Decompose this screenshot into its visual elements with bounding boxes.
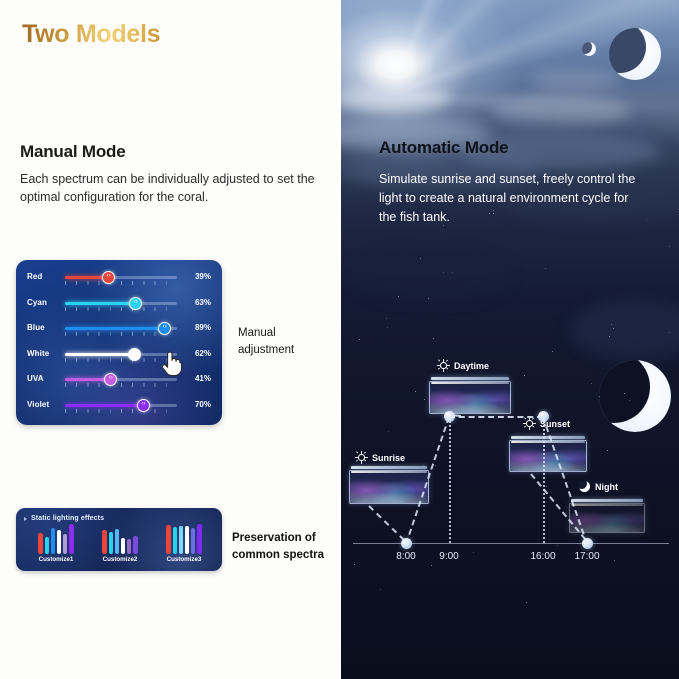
tank-coral-bed: [510, 454, 586, 471]
cloud-2: [491, 96, 631, 126]
star: [669, 332, 670, 333]
cloud-9: [351, 250, 511, 302]
star: [669, 246, 670, 247]
slider-label: Blue: [27, 323, 45, 332]
slider-label: White: [27, 349, 49, 358]
sunrise-sun-icon: [355, 451, 368, 464]
star: [380, 589, 381, 590]
slider-track[interactable]: [65, 378, 177, 381]
aquarium-tank-sunrise: [349, 470, 429, 504]
preset-bar: [191, 528, 195, 554]
slider-row-cyan[interactable]: Cyan63%: [16, 293, 222, 316]
chevron-right-icon: [24, 517, 27, 521]
slider-label: Violet: [27, 400, 49, 409]
preset-bar: [133, 536, 137, 554]
slider-percent: 41%: [195, 374, 211, 383]
phase-label-daytime: Daytime: [437, 359, 489, 372]
star: [526, 602, 527, 603]
cloud-8: [571, 300, 679, 360]
slider-track[interactable]: [65, 302, 177, 305]
connector-sunrise-tank: [368, 505, 404, 540]
slider-fill: [65, 327, 165, 330]
slider-ticks: [65, 307, 177, 311]
plateau-line: [449, 416, 543, 418]
preset-bar: [185, 526, 189, 554]
slider-percent: 39%: [195, 272, 211, 281]
crescent-moon-icon: [579, 481, 591, 493]
preset-bar: [173, 527, 177, 554]
aquarium-tank-daytime: [429, 381, 511, 414]
manual-mode-panel: Two Models Manual Mode Each spectrum can…: [0, 0, 340, 679]
lighting-timeline: SunriseDaytimeSunsetNight8:009:0016:0017…: [341, 355, 679, 585]
preset-1[interactable]: Customize1: [28, 528, 84, 563]
preset-3[interactable]: Customize3: [156, 528, 212, 563]
drop-line-1: [449, 416, 451, 543]
preset-bar: [102, 530, 106, 554]
star: [613, 328, 614, 329]
slider-fill: [65, 353, 134, 356]
page-title: Two Models: [22, 20, 160, 49]
tank-light-bar-daytime: [431, 377, 509, 380]
slider-row-blue[interactable]: Blue89%: [16, 318, 222, 341]
slider-label: Cyan: [27, 298, 47, 307]
star: [611, 324, 612, 325]
preset-bar: [63, 534, 67, 554]
slider-ticks: [65, 383, 177, 387]
tank-light-bar-night: [571, 499, 643, 502]
cloud-1: [341, 86, 451, 112]
sunset-sun-icon: [523, 417, 536, 430]
slider-percent: 70%: [195, 400, 211, 409]
time-label-2: 16:00: [530, 551, 555, 562]
effects-title: Static lighting effects: [31, 515, 104, 522]
automatic-mode-heading: Automatic Mode: [379, 138, 508, 158]
star: [609, 336, 610, 337]
star: [428, 298, 429, 299]
preset-bar: [115, 529, 119, 554]
preset-bar: [121, 538, 125, 554]
preset-bar: [109, 532, 113, 554]
slider-knob[interactable]: [137, 399, 150, 412]
preset-bars: [28, 528, 84, 554]
sun-icon: [437, 359, 450, 372]
small-moon-icon: [582, 42, 596, 56]
preset-name: Customize2: [92, 556, 148, 563]
tank-coral-bed: [350, 484, 428, 503]
slider-ticks: [65, 409, 177, 413]
star: [420, 258, 421, 259]
phase-name: Daytime: [454, 361, 489, 371]
star: [452, 272, 453, 273]
slider-fill: [65, 404, 143, 407]
preservation-caption: Preservation of common spectra: [232, 530, 336, 563]
manual-mode-heading: Manual Mode: [20, 142, 125, 162]
slider-track[interactable]: [65, 276, 177, 279]
automatic-mode-panel: Automatic Mode Simulate sunrise and suns…: [341, 0, 679, 679]
phase-name: Night: [595, 482, 618, 492]
star: [387, 327, 388, 328]
preset-bar: [179, 526, 183, 554]
effects-title-row: Static lighting effects: [24, 515, 104, 522]
star: [386, 318, 387, 319]
preset-bar: [197, 524, 201, 554]
slider-ticks: [65, 281, 177, 285]
preset-name: Customize1: [28, 556, 84, 563]
slider-ticks: [65, 358, 177, 362]
preset-bar: [51, 528, 55, 554]
preset-bar: [38, 533, 42, 554]
slider-track[interactable]: [65, 404, 177, 407]
preset-bars: [92, 528, 148, 554]
star: [646, 219, 647, 220]
slider-percent: 63%: [195, 298, 211, 307]
spectrum-slider-card: Red39%Cyan63%Blue89%White62%UVA41%Violet…: [16, 260, 222, 425]
slider-fill: [65, 302, 136, 305]
slider-knob[interactable]: [128, 348, 141, 361]
drop-line-2: [543, 416, 545, 543]
preset-bars: [156, 528, 212, 554]
slider-row-white[interactable]: White62%: [16, 344, 222, 367]
tank-coral-bed: [430, 395, 510, 413]
manual-mode-description: Each spectrum can be individually adjust…: [20, 170, 320, 206]
phase-label-sunrise: Sunrise: [355, 451, 405, 464]
slider-percent: 62%: [195, 349, 211, 358]
star: [359, 339, 360, 340]
preset-bar: [57, 530, 61, 554]
aquarium-tank-sunset: [509, 440, 587, 472]
preset-2[interactable]: Customize2: [92, 528, 148, 563]
slider-knob[interactable]: [129, 297, 142, 310]
preset-bar: [69, 524, 73, 554]
slider-row-violet[interactable]: Violet70%: [16, 395, 222, 418]
slider-percent: 89%: [195, 323, 211, 332]
star: [433, 338, 434, 339]
preset-bar: [127, 539, 131, 554]
preset-name: Customize3: [156, 556, 212, 563]
slider-row-red[interactable]: Red39%: [16, 267, 222, 290]
tank-light-bar-sunrise: [351, 466, 427, 469]
slider-label: UVA: [27, 374, 44, 383]
slider-row-uva[interactable]: UVA41%: [16, 369, 222, 392]
slider-label: Red: [27, 272, 42, 281]
manual-adjustment-caption: Manual adjustment: [238, 325, 334, 358]
slider-track[interactable]: [65, 353, 177, 356]
static-lighting-effects-card: Static lighting effects Customize1Custom…: [16, 508, 222, 571]
time-label-1: 9:00: [439, 551, 458, 562]
time-label-0: 8:00: [396, 551, 415, 562]
automatic-mode-description: Simulate sunrise and sunset, freely cont…: [379, 170, 643, 226]
time-label-3: 17:00: [574, 551, 599, 562]
phase-name: Sunrise: [372, 453, 405, 463]
cloud-5: [531, 70, 621, 90]
preset-bar: [45, 537, 49, 554]
crescent-moon-icon-top: [609, 28, 661, 80]
phase-label-night: Night: [579, 481, 618, 493]
star: [398, 296, 399, 297]
star: [545, 268, 546, 269]
star: [443, 272, 444, 273]
star: [552, 351, 553, 352]
preset-bar: [166, 525, 170, 554]
